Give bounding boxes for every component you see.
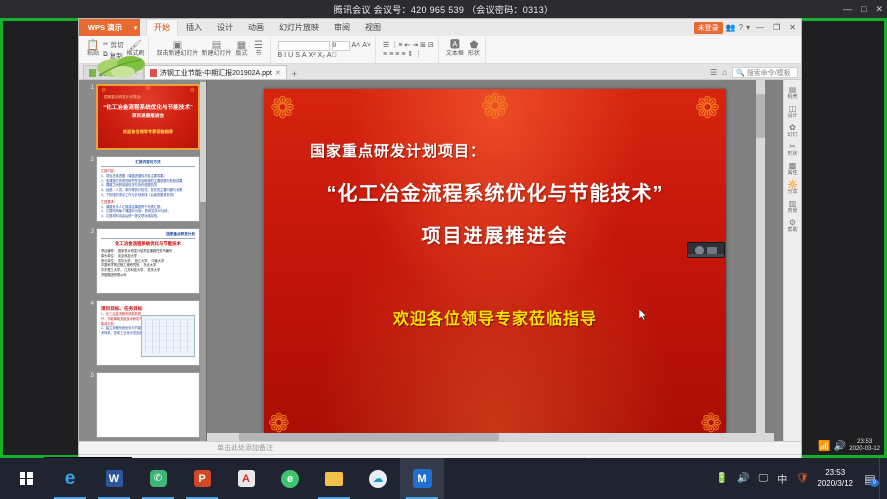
- rail-item-background[interactable]: ▥ 背景: [785, 200, 801, 214]
- tab-slideshow[interactable]: 幻灯片放映: [272, 20, 326, 36]
- properties-icon: ▩: [789, 162, 797, 170]
- rail-label: 稻壳: [787, 94, 797, 100]
- meeting-window-controls: — □ ✕: [843, 0, 883, 18]
- thumbnail-canvas[interactable]: 项目目标、任务目标 1、化工冶金流程系统能效提升、节能降耗关键技术研发与集成示范…: [96, 300, 200, 366]
- grow-font-icon[interactable]: A˄: [352, 42, 361, 49]
- decrease-indent-icon[interactable]: ⇤: [404, 41, 410, 49]
- slide-vertical-scrollbar-thumb[interactable]: [756, 94, 765, 138]
- browser-icon: e: [281, 470, 299, 488]
- doc-tab-my-wps-label: 我的WPS: [99, 68, 129, 78]
- thumbnail-number: 1: [89, 84, 96, 91]
- current-slide[interactable]: ❁ ❁ ❁ ❁ ❁ 国家重点研发计划项目： “化工冶金流程系统优化与节能技术” …: [264, 89, 726, 433]
- thumb-title: 汇报内容与方式: [101, 160, 195, 167]
- thumbnail-item-2[interactable]: 2 汇报内容与方式 汇报内容： 1、项目总体进展（课题进展情况及主要成果） 2、…: [89, 156, 200, 222]
- help-icon[interactable]: ?: [739, 23, 743, 32]
- rail-item-shape[interactable]: ✂ 形状: [785, 143, 801, 157]
- copy-icon: ⧉: [103, 51, 108, 59]
- system-tray: 🔋 🔊 🖵 中 🛡: [716, 458, 809, 499]
- section-label: 节: [255, 51, 261, 59]
- layout-icon: ▦: [237, 41, 246, 51]
- share-icon: 🔆: [788, 181, 798, 189]
- bold-button[interactable]: B: [278, 52, 283, 59]
- windows-taskbar: e W ✆ P A e ☁ M: [0, 458, 887, 499]
- slide-secondary-title[interactable]: 项目进展推进会: [264, 221, 726, 248]
- rail-item-share[interactable]: 🔆 分享: [785, 181, 801, 195]
- home-icon[interactable]: ⌂: [722, 68, 727, 77]
- columns-icon[interactable]: ⊟: [428, 41, 434, 49]
- thumbnail-item-4[interactable]: 4 项目目标、任务目标 1、化工冶金流程系统能效提升、节能降耗关键技术研发与集成…: [89, 300, 200, 366]
- thumbnail-item-3[interactable]: 3 国家重点研发计划 化工冶金流程系统优化与节能技术 项目编号： 国家重点研发计…: [89, 228, 200, 294]
- rail-item-dochub[interactable]: ▤ 稻壳: [785, 86, 801, 100]
- shrink-font-icon[interactable]: A˅: [362, 42, 371, 49]
- edge-icon: e: [65, 468, 76, 490]
- wps-presentation-window: WPS 演示 ▾ 开始 插入 设计 动画 幻灯片放映 审阅 视图 未登录 👥 ?…: [78, 18, 802, 458]
- action-center-badge: 9: [870, 479, 879, 487]
- document-tabs: 我的WPS ✕ 济钢工业节能-中期汇报201902A.ppt ✕ + ☰ ⌂ 🔍…: [79, 64, 801, 80]
- shared-network-icon: 📶: [818, 441, 830, 452]
- search-icon: 🔍: [736, 69, 745, 77]
- collaborate-icon[interactable]: 👥: [726, 23, 736, 32]
- rail-item-design[interactable]: ◫ 设计: [785, 105, 801, 119]
- shared-clock-date: 2020-03-12: [849, 446, 880, 452]
- layout-label: 版式: [235, 51, 247, 59]
- thumb-line1: 国家重点研发计划项目：: [104, 95, 144, 100]
- new-slide-label: 新建幻灯片: [201, 51, 231, 59]
- shapes-icon: ⬟: [470, 41, 479, 51]
- taskbar-item-wechat[interactable]: ✆: [136, 458, 180, 499]
- thumbnails-scrollbar-thumb[interactable]: [200, 82, 206, 202]
- floating-video-window[interactable]: [687, 242, 725, 258]
- battery-icon[interactable]: 🔋: [716, 473, 728, 484]
- textbox-button[interactable]: 🅰 文本框: [446, 41, 464, 59]
- clock-time: 23:53: [825, 468, 845, 478]
- numbering-icon[interactable]: ⋮≡: [391, 41, 402, 49]
- security-icon[interactable]: 🛡: [796, 473, 809, 484]
- slide-horizontal-scrollbar-thumb[interactable]: [239, 433, 499, 441]
- action-center-button[interactable]: ▤ 9: [864, 458, 879, 499]
- word-icon: W: [106, 470, 123, 487]
- rail-label: 设计: [787, 113, 797, 119]
- meeting-close-icon[interactable]: ✕: [875, 5, 883, 14]
- italic-button[interactable]: I: [284, 52, 286, 59]
- slide-canvas-area[interactable]: ❁ ❁ ❁ ❁ ❁ 国家重点研发计划项目： “化工冶金流程系统优化与节能技术” …: [207, 80, 783, 441]
- slide-main-title[interactable]: “化工冶金流程系统优化与节能技术”: [264, 177, 726, 206]
- shared-clock-time: 23:53: [857, 439, 872, 445]
- layout-button[interactable]: ▦ 版式: [235, 41, 249, 59]
- thumbnail-number: 3: [89, 228, 96, 235]
- text-direction-icon[interactable]: ⊞: [420, 41, 426, 49]
- rail-label: 背景: [787, 208, 797, 214]
- font-size-input[interactable]: 9: [332, 41, 350, 51]
- dochub-icon: ▤: [789, 86, 797, 94]
- line-spacing-icon[interactable]: ⇕: [407, 50, 413, 58]
- copy-label: 复制: [110, 50, 123, 60]
- superscript-button[interactable]: X²: [309, 52, 316, 59]
- textbox-label: 文本框: [446, 51, 464, 59]
- new-slide-dblclick-label: 双击新建幻灯片: [156, 51, 198, 59]
- brush-icon: 🖌: [129, 41, 142, 51]
- ornament-top-right-icon: ❁: [695, 91, 720, 126]
- shared-sound-icon: 🔊: [834, 441, 846, 452]
- show-desktop-button[interactable]: [879, 458, 887, 499]
- align-left-icon[interactable]: ≡: [383, 51, 387, 58]
- mouse-cursor-icon: [639, 309, 648, 321]
- cut-label: 剪切: [110, 39, 123, 49]
- format-painter-button[interactable]: 🖌 格式刷: [126, 41, 144, 59]
- paste-button[interactable]: 📋 粘贴: [86, 41, 100, 59]
- strikethrough-button[interactable]: S: [295, 52, 300, 59]
- gear-icon: ⚙: [789, 219, 796, 227]
- thumbnail-item-5[interactable]: 5: [89, 372, 200, 438]
- thumb-line4: 欢迎各位领导专家莅临指导: [98, 129, 198, 135]
- doc-tab-active-file-label: 济钢工业节能-中期汇报201902A.ppt: [160, 68, 272, 78]
- thumbnail-canvas[interactable]: [96, 372, 200, 438]
- thumb-line3: 项目进展推进会: [98, 113, 198, 119]
- floating-video-toolbar[interactable]: [688, 254, 724, 257]
- background-icon: ▥: [789, 200, 797, 208]
- wechat-icon: ✆: [150, 470, 167, 487]
- clock-date: 2020/3/12: [817, 479, 853, 489]
- text-effects-icon[interactable]: A: [302, 52, 307, 59]
- slide-thumbnails-pane[interactable]: 1 ❁ ❁ ❁ 国家重点研发计划项目： “化工冶金流程系统优化与节能技术” 项目…: [79, 80, 207, 441]
- taskbar-item-powerpoint[interactable]: P: [180, 458, 224, 499]
- tencent-meeting-window: 腾讯会议 会议号：420 965 539 （会议密码：0313） — □ ✕ 📶…: [0, 0, 887, 499]
- meeting-title: 腾讯会议 会议号：420 965 539 （会议密码：0313）: [334, 3, 554, 16]
- tab-review[interactable]: 审阅: [327, 20, 357, 36]
- notes-pane[interactable]: 单击此处添加备注: [79, 441, 801, 454]
- format-painter-label: 格式刷: [126, 51, 144, 59]
- thumbnail-canvas[interactable]: 国家重点研发计划 化工冶金流程系统优化与节能技术 项目编号： 国家重点研发计划项…: [96, 228, 200, 294]
- thumb-info-slide: 国家重点研发计划 化工冶金流程系统优化与节能技术 项目编号： 国家重点研发计划项…: [97, 229, 199, 293]
- clipboard-group: 📋 粘贴 ✂ 剪切 ⧉ 复制 🖌 格式刷: [82, 37, 149, 63]
- taskbar-item-tencent-meeting[interactable]: M: [400, 458, 444, 499]
- slide-icon: ✿: [789, 124, 796, 132]
- taskbar-item-file-explorer[interactable]: [312, 458, 356, 499]
- tencent-meeting-icon: M: [413, 469, 432, 488]
- wps-main-area: 1 ❁ ❁ ❁ 国家重点研发计划项目： “化工冶金流程系统优化与节能技术” 项目…: [79, 80, 801, 441]
- chevron-down-icon[interactable]: ▾: [746, 23, 750, 32]
- paragraph-settings-icon[interactable]: ⋮: [415, 50, 422, 58]
- align-justify-icon[interactable]: ≡: [401, 51, 405, 58]
- powerpoint-icon: P: [194, 470, 211, 487]
- thumb-red-slide: ❁ ❁ ❁ 国家重点研发计划项目： “化工冶金流程系统优化与节能技术” 项目进展…: [98, 86, 198, 148]
- thumbnail-canvas[interactable]: ❁ ❁ ❁ 国家重点研发计划项目： “化工冶金流程系统优化与节能技术” 项目进展…: [96, 84, 200, 150]
- cloud-icon: [89, 69, 96, 77]
- thumb-line2: “化工冶金流程系统优化与节能技术”: [98, 103, 198, 111]
- thumb-bullet: 5、下阶段的重点工作与计划安排（后续的推进安排）: [101, 193, 195, 198]
- acrobat-icon: A: [238, 470, 255, 487]
- start-button[interactable]: [4, 458, 48, 499]
- thumbnail-item-1[interactable]: 1 ❁ ❁ ❁ 国家重点研发计划项目： “化工冶金流程系统优化与节能技术” 项目…: [89, 84, 200, 150]
- ornament-icon: ❁: [190, 87, 195, 94]
- tab-list-icon[interactable]: ☰: [710, 68, 717, 77]
- doc-tab-my-wps-close-icon[interactable]: ✕: [132, 69, 138, 77]
- rail-label: 属性: [787, 170, 797, 176]
- taskbar-item-netdisk[interactable]: ☁: [356, 458, 400, 499]
- slide-plus-icon: ▤: [212, 41, 221, 51]
- new-slide-icon: ▣: [173, 41, 182, 51]
- windows-logo-icon: [20, 472, 33, 485]
- underline-button[interactable]: U: [288, 52, 293, 59]
- ornament-icon: ❁: [145, 85, 150, 92]
- volume-icon[interactable]: 🔊: [737, 473, 749, 484]
- thumb-header: 国家重点研发计划: [101, 232, 195, 239]
- section-button[interactable]: ☰ 节: [252, 41, 266, 59]
- align-center-icon[interactable]: ≡: [389, 51, 393, 58]
- thumbnail-canvas[interactable]: 汇报内容与方式 汇报内容： 1、项目总体进展（课题进展情况及主要成果） 2、各课…: [96, 156, 200, 222]
- thumb-row: 济钢集团有限公司: [101, 273, 195, 278]
- meeting-minimize-icon[interactable]: —: [843, 5, 852, 14]
- taskbar-item-360browser[interactable]: e: [268, 458, 312, 499]
- cloud-icon: ☁: [369, 470, 387, 488]
- tab-insert[interactable]: 插入: [179, 20, 209, 36]
- thumb-text-slide: 汇报内容与方式 汇报内容： 1、项目总体进展（课题进展情况及主要成果） 2、各课…: [97, 157, 199, 221]
- rail-label: 帮助: [787, 227, 797, 233]
- video-feed-icon: [707, 247, 717, 254]
- subscript-button[interactable]: X₂: [318, 52, 325, 59]
- meeting-maximize-icon[interactable]: □: [861, 5, 866, 14]
- tab-start[interactable]: 开始: [146, 19, 178, 36]
- textbox-icon: 🅰: [450, 41, 460, 51]
- meeting-titlebar: 腾讯会议 会议号：420 965 539 （会议密码：0313） — □ ✕: [0, 0, 887, 18]
- ornament-top-center-icon: ❁: [481, 89, 510, 127]
- search-placeholder: 搜索命令/模板: [747, 68, 791, 78]
- wps-topbar: WPS 演示 ▾ 开始 插入 设计 动画 幻灯片放映 审阅 视图 未登录 👥 ?…: [79, 19, 801, 36]
- ornament-bottom-right-icon: ❁: [700, 408, 722, 433]
- cut-button[interactable]: ✂ 剪切: [103, 39, 123, 49]
- thumb-diagram: [141, 315, 195, 357]
- shared-desktop-clock: 📶 🔊 23:53 2020-03-12: [818, 439, 880, 453]
- search-input[interactable]: 🔍 搜索命令/模板: [732, 67, 798, 78]
- rail-label: 形状: [787, 151, 797, 157]
- taskbar-item-edge[interactable]: e: [48, 458, 92, 499]
- ribbon-toolbar: 📋 粘贴 ✂ 剪切 ⧉ 复制 🖌 格式刷: [79, 36, 801, 64]
- tab-design[interactable]: 设计: [210, 20, 240, 36]
- thumbnail-number: 5: [89, 372, 96, 379]
- rail-item-help[interactable]: ⚙ 帮助: [785, 219, 801, 233]
- shapes-label: 形状: [468, 51, 480, 59]
- drawing-group: 🅰 文本框 ⬟ 形状: [442, 37, 486, 63]
- ornament-icon: ❁: [101, 87, 106, 94]
- ppt-file-icon: [150, 69, 157, 77]
- doctabs-right-tools: ☰ ⌂ 🔍 搜索命令/模板: [710, 67, 798, 78]
- slide-welcome-text[interactable]: 欢迎各位领导专家莅临指导: [264, 305, 726, 329]
- doc-tab-my-wps[interactable]: 我的WPS ✕: [83, 65, 144, 79]
- slides-group: ▣ 双击新建幻灯片 ▤ 新建幻灯片 ▦ 版式 ☰ 节: [152, 37, 270, 63]
- right-tool-rail: ▤ 稻壳 ◫ 设计 ✿ 幻灯 ✂ 形状 ▩ 属性: [783, 80, 801, 441]
- rail-item-slide[interactable]: ✿ 幻灯: [785, 124, 801, 138]
- taskbar-clock[interactable]: 23:53 2020/3/12: [817, 458, 853, 499]
- design-icon: ◫: [789, 105, 797, 113]
- taskbar-item-acrobat[interactable]: A: [224, 458, 268, 499]
- network-icon[interactable]: 🖵: [759, 473, 769, 484]
- tab-view[interactable]: 视图: [358, 20, 388, 36]
- section-icon: ☰: [254, 41, 263, 51]
- shapes-button[interactable]: ⬟ 形状: [467, 41, 481, 59]
- ornament-bottom-left-icon: ❁: [268, 408, 290, 433]
- thumbnail-number: 4: [89, 300, 96, 307]
- notes-placeholder: 单击此处添加备注: [217, 443, 273, 453]
- taskbar-item-word[interactable]: W: [92, 458, 136, 499]
- wps-logo-text: WPS 演示: [88, 22, 122, 33]
- font-group: 9 A˄ A˅ B I U S A X² X₂ A⃠: [274, 37, 377, 63]
- paste-label: 粘贴: [87, 51, 99, 59]
- rail-label: 幻灯: [787, 132, 797, 138]
- ornament-top-left-icon: ❁: [270, 91, 295, 126]
- thumb-diagram-grid: [145, 319, 191, 353]
- thumb-title: 化工冶金流程系统优化与节能技术: [101, 241, 195, 247]
- thumb-note: 2、建立流程系统优化与节能技术体系，形成工业化示范应用: [101, 326, 145, 336]
- wps-minimize-button[interactable]: —: [753, 23, 767, 32]
- scissors-icon: ✂: [103, 40, 108, 48]
- align-right-icon[interactable]: ≡: [395, 51, 399, 58]
- wps-close-button[interactable]: ✕: [786, 23, 799, 32]
- paste-icon: 📋: [87, 41, 99, 51]
- thumb-blank-slide: [97, 373, 199, 437]
- ime-indicator[interactable]: 中: [777, 471, 787, 486]
- tab-animation[interactable]: 动画: [241, 20, 271, 36]
- wps-topbar-right: 未登录 👥 ? ▾ — ❐ ✕: [694, 19, 799, 36]
- doc-tab-close-icon[interactable]: ✕: [275, 69, 281, 77]
- new-slide-button[interactable]: ▤ 新建幻灯片: [201, 41, 231, 59]
- folder-icon: [325, 472, 343, 486]
- bullets-icon[interactable]: ☰: [383, 41, 389, 49]
- thumb-diagram-slide: 项目目标、任务目标 1、化工冶金流程系统能效提升、节能降耗关键技术研发与集成示范…: [97, 301, 199, 365]
- doc-tab-active-file[interactable]: 济钢工业节能-中期汇报201902A.ppt ✕: [144, 65, 287, 79]
- wps-restore-button[interactable]: ❐: [770, 23, 783, 32]
- ribbon-tabs: 开始 插入 设计 动画 幻灯片放映 审阅 视图: [140, 19, 388, 36]
- new-tab-button[interactable]: +: [287, 69, 302, 79]
- wps-logo[interactable]: WPS 演示: [79, 19, 131, 36]
- slide-subtitle-line[interactable]: 国家重点研发计划项目：: [310, 140, 486, 161]
- paragraph-group: ☰ ⋮≡ ⇤ ⇥ ⊞ ⊟ ≡ ≡ ≡ ≡ ⇕ ⋮: [379, 37, 439, 63]
- rail-item-properties[interactable]: ▩ 属性: [785, 162, 801, 176]
- thumbnails-scrollbar[interactable]: [200, 80, 206, 441]
- thumb-bullet: 3、汇报材料请会后统一提交项目组存档。: [101, 214, 195, 219]
- login-button[interactable]: 未登录: [694, 22, 723, 34]
- thumb-note: 1、化工冶金流程系统能效提升、节能降耗关键技术研发与集成示范: [101, 312, 145, 326]
- font-name-input[interactable]: [278, 41, 330, 51]
- new-slide-dblclick-button[interactable]: ▣ 双击新建幻灯片: [156, 41, 198, 59]
- copy-button[interactable]: ⧉ 复制: [103, 50, 123, 60]
- clear-format-icon[interactable]: A⃠: [327, 52, 337, 59]
- thumbnail-number: 2: [89, 156, 96, 163]
- tab-dropdown-icon[interactable]: ▾: [131, 19, 140, 36]
- shape-icon: ✂: [789, 143, 796, 151]
- rail-label: 分享: [787, 189, 797, 195]
- increase-indent-icon[interactable]: ⇥: [412, 41, 418, 49]
